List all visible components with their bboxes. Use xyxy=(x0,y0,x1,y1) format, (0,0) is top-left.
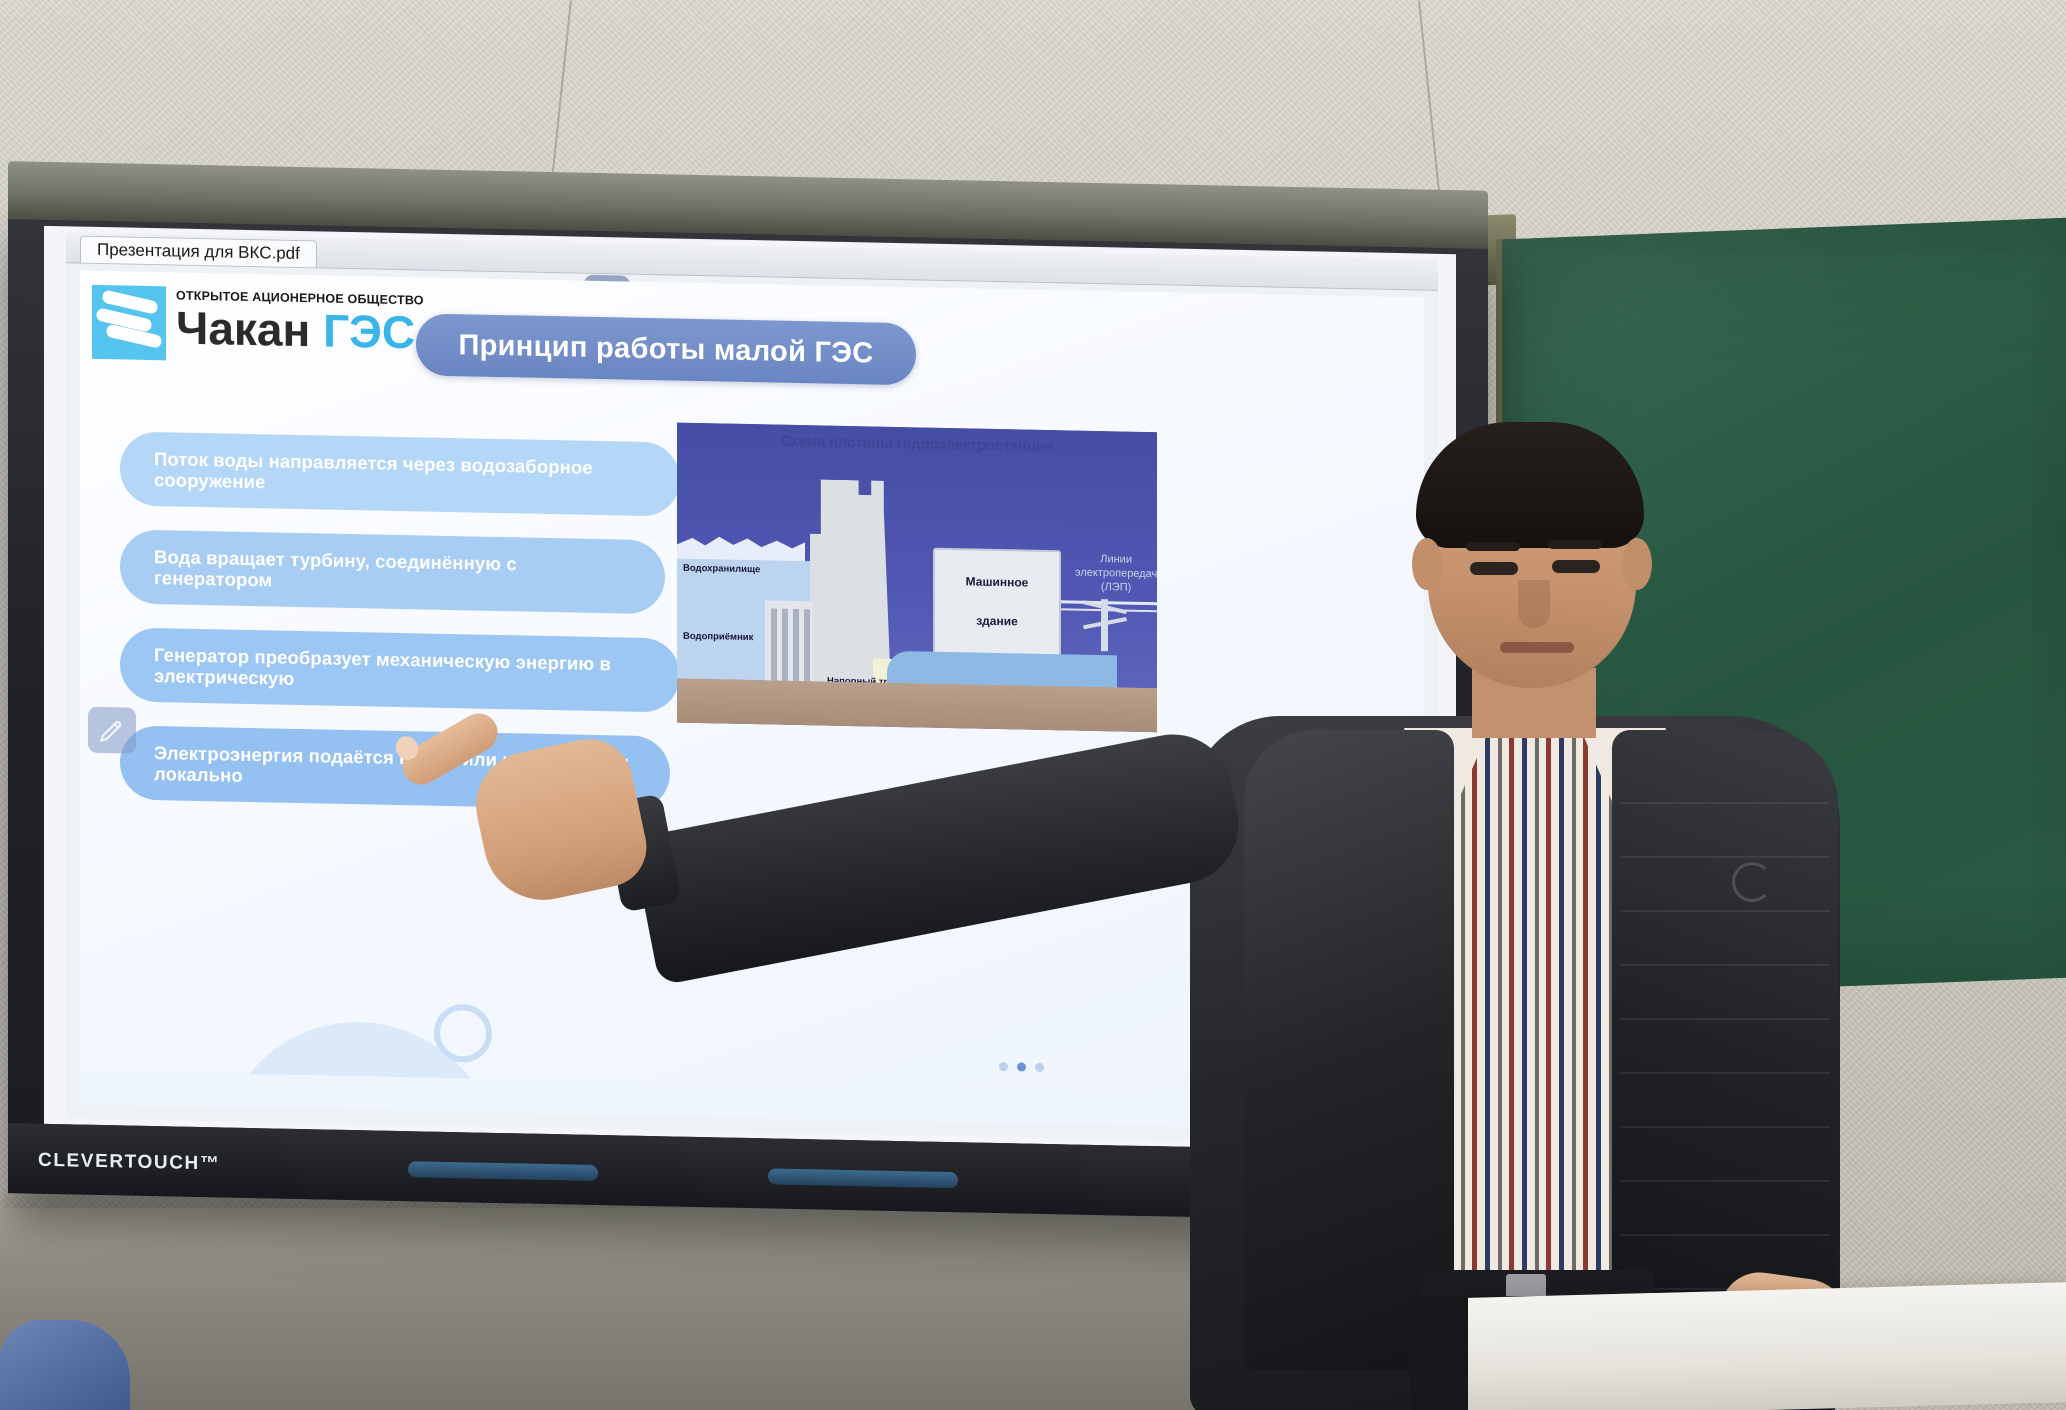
pdf-tab[interactable]: Презентация для ВКС.pdf xyxy=(80,236,317,268)
presenter-ear-right xyxy=(1622,538,1652,590)
presenter-eyebrow-right xyxy=(1548,540,1602,549)
bullet-text: Генератор преобразует механическую энерг… xyxy=(154,644,646,696)
bullet-text: Поток воды направляется через водозаборн… xyxy=(154,448,646,500)
company-logo: ОТКРЫТОЕ АЦИОНЕРНОЕ ОБЩЕСТВО Чакан ГЭС xyxy=(92,285,424,366)
list-item: Вода вращает турбину, соединённую с гене… xyxy=(120,529,665,614)
intake-label: Водоприёмник xyxy=(683,631,753,643)
list-item: Генератор преобразует механическую энерг… xyxy=(120,627,680,712)
list-item: Поток воды направляется через водозаборн… xyxy=(120,431,680,516)
logo-name-main: Чакан xyxy=(176,302,310,357)
dot xyxy=(999,1062,1008,1071)
chakan-logo-icon xyxy=(92,285,166,360)
reservoir-label: Водохранилище xyxy=(683,563,760,576)
logo-name: Чакан ГЭС xyxy=(176,303,424,358)
belt-buckle xyxy=(1506,1274,1546,1298)
presenter-eye-left xyxy=(1470,562,1518,575)
ground-shape xyxy=(677,679,1157,733)
intake-structure xyxy=(765,600,813,693)
panel-speaker-grille xyxy=(768,1168,958,1188)
classroom-scene: Lenovo Презентация для ВКС.pdf ◁ ▷ ⊞ ✕ xyxy=(0,0,2066,1410)
presenter-eye-right xyxy=(1552,560,1600,573)
powerlines-label-line2: (ЛЭП) xyxy=(1075,580,1157,595)
presenter-hair xyxy=(1416,422,1644,548)
decorative-ring xyxy=(434,1004,492,1063)
presenter xyxy=(1160,430,1880,1410)
powerhouse-label-line1: Машинное xyxy=(935,574,1059,591)
device-brand-label: CLEVERTOUCH™ xyxy=(38,1150,220,1176)
pen-tool-button[interactable] xyxy=(88,707,136,754)
desk xyxy=(1468,1282,2066,1410)
logo-text: ОТКРЫТОЕ АЦИОНЕРНОЕ ОБЩЕСТВО Чакан ГЭС xyxy=(176,287,424,358)
slide-title-banner: Принцип работы малой ГЭС xyxy=(416,313,916,385)
powerlines-label-line1: Линии электропередач xyxy=(1075,553,1157,582)
transmission-tower xyxy=(1081,599,1129,652)
presenter-nose xyxy=(1518,580,1550,628)
jacket-quilting xyxy=(1620,750,1830,1350)
dot-active xyxy=(1017,1062,1026,1071)
powerlines-label: Линии электропередач (ЛЭП) xyxy=(1075,553,1157,596)
presenter-ear-left xyxy=(1412,538,1442,590)
presenter-mouth xyxy=(1500,642,1574,653)
pen-icon xyxy=(98,716,126,745)
bullet-text: Вода вращает турбину, соединённую с гене… xyxy=(154,546,631,598)
jacket-logo-icon xyxy=(1732,862,1772,902)
page-title: Принцип работы малой ГЭС xyxy=(459,329,874,370)
presenter-eyebrow-left xyxy=(1466,542,1520,551)
logo-name-accent: ГЭС xyxy=(323,304,415,358)
powerhouse-label-line2: здание xyxy=(935,613,1059,630)
dot xyxy=(1035,1063,1044,1072)
slide-progress-dots xyxy=(999,1062,1044,1072)
panel-speaker-grille xyxy=(408,1161,598,1181)
hydro-dam-diagram: Схема плотины гидроэлектростанции Водохр… xyxy=(677,423,1157,733)
